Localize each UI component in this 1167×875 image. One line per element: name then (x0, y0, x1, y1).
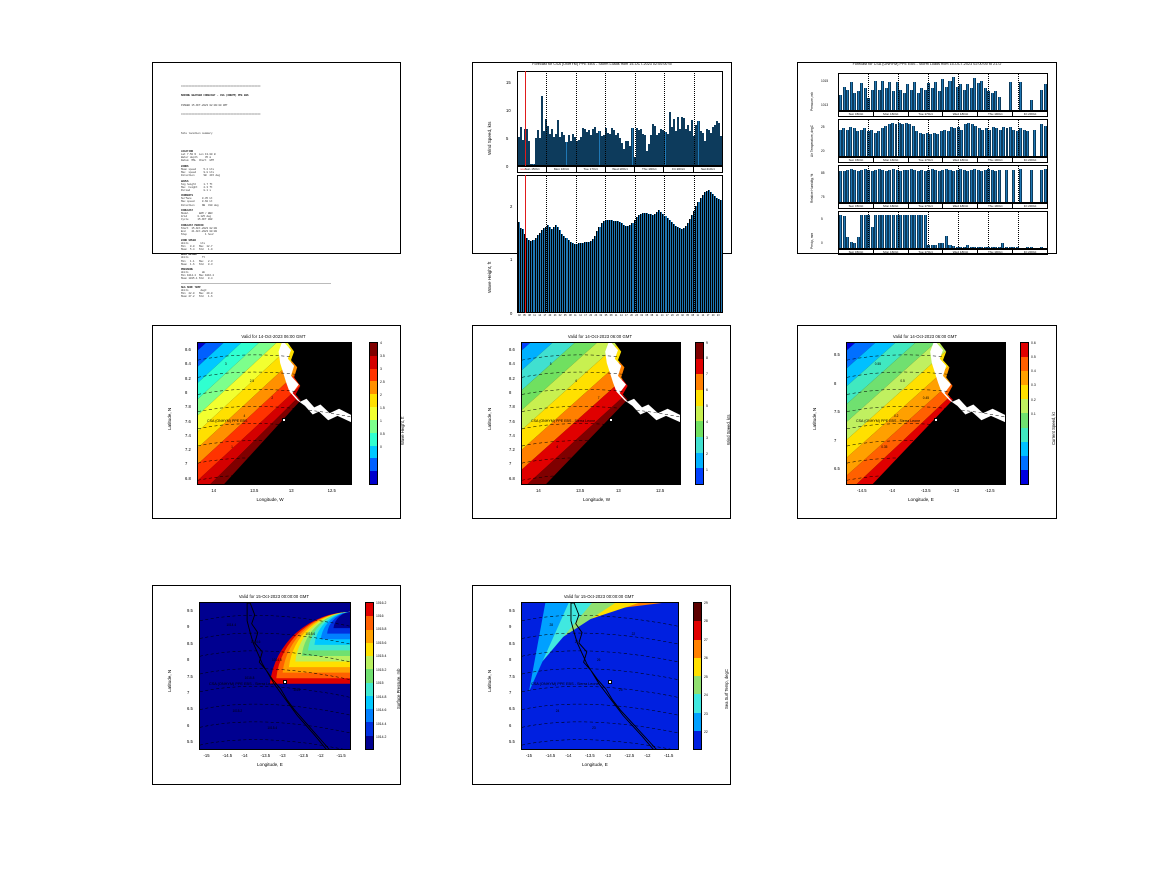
colorbar-tick: 22 (704, 730, 708, 734)
y-tick: 7.4 (185, 433, 191, 438)
x-tick: 05 (686, 314, 689, 317)
day-label: Tue 17Oct (909, 158, 944, 162)
day-gridline (605, 71, 606, 166)
map-ylabel: Latitude, N (487, 407, 492, 429)
x-tick: 13.5 (250, 488, 258, 493)
stacked-title: Forecast for CSA (ONHYM) PPE EBS - Storm… (798, 62, 1056, 66)
y-tick: 6 (187, 723, 189, 728)
contour-label: 0.55 (875, 362, 881, 366)
day-label: Tue 17Oct (909, 250, 944, 254)
colorbar-segment (366, 669, 373, 682)
site-marker (282, 418, 286, 422)
report-block: WINDSMean speed 5.2 ktsMax speed 9.8 kts… (181, 165, 390, 177)
day-gridline (868, 119, 869, 157)
report-block: FORECAST PERIODStart 15-Oct-2023 02:00En… (181, 224, 390, 236)
x-tick: 11 (615, 314, 617, 317)
y-tick: 8.6 (185, 347, 191, 352)
x-tick: -11.5 (337, 753, 346, 758)
report-block-line: Mean 27.2 Std 1.6 (181, 295, 390, 298)
map-xlabel: Longitude, W (583, 497, 610, 502)
bar (1044, 169, 1047, 202)
colorbar-segment (366, 630, 373, 643)
bar (924, 215, 927, 248)
panel-surface-pressure-map: Valid for 15-Oct-2023 00:00:00 GMTCSA (O… (152, 585, 401, 785)
x-tick: 13 (289, 488, 294, 493)
day-label: Thu 19Oct (978, 112, 1013, 116)
y-tick: 8.6 (509, 347, 515, 352)
y-tick: 7.2 (185, 447, 191, 452)
colorbar-tick: 26 (704, 656, 708, 660)
day-label: Wed 18Oct (943, 158, 978, 162)
contour-label: 1014.6 (251, 640, 261, 644)
y-tick: 10 (506, 108, 511, 113)
day-gridline (635, 175, 636, 313)
x-tick: -13 (953, 488, 959, 493)
x-tick: -11.5 (664, 753, 673, 758)
x-tick: -14 (565, 753, 571, 758)
day-gridline (928, 165, 929, 203)
x-tick: 05 (564, 314, 567, 317)
contour-label: 24 (556, 709, 560, 713)
report-title-4: ========================================… (181, 113, 390, 116)
y-tick: 8.5 (187, 641, 193, 646)
contour-label: 23 (592, 726, 596, 730)
site-marker (283, 680, 287, 684)
contour-label: 4 (244, 414, 246, 418)
colorbar-segment (1021, 428, 1028, 442)
day-gridline (868, 165, 869, 203)
x-tick: 14 (620, 314, 623, 317)
contour-label: 3 (225, 362, 227, 366)
colorbar-segment (366, 603, 373, 616)
day-gridline (635, 71, 636, 166)
colorbar-tick: 1014.2 (376, 735, 386, 739)
day-label: Fri 20Oct (664, 167, 693, 172)
colorbar-tick: 1014.8 (376, 695, 386, 699)
x-tick: -15 (526, 753, 532, 758)
colorbar-tick: 0.4 (1031, 369, 1036, 373)
x-tick: 08 (610, 314, 613, 317)
y-tick: 7.8 (185, 404, 191, 409)
x-tick: 23 (676, 314, 679, 317)
bar (1019, 169, 1022, 202)
site-marker (608, 680, 612, 684)
map-site-label: CSA (ONHYM) PPE EBS (207, 419, 247, 423)
colorbar-tick: 1015 (376, 681, 384, 685)
y-tick: 7.5 (834, 409, 840, 414)
panel-current-speed-map: Valid for 14-Oct-2023 06:00 GMTCSA (ONHY… (797, 325, 1057, 519)
colorbar-tick: 7 (706, 372, 708, 376)
map-title: Valid for 14-Oct-2023 06:00 GMT (197, 334, 350, 339)
colorbar-segment (696, 437, 703, 453)
day-label: Sun 15Oct (839, 250, 874, 254)
colorbar-segment (694, 713, 701, 731)
x-tick: 13.5 (576, 488, 584, 493)
day-gridline (958, 73, 959, 111)
y-tick: 1015 (821, 79, 828, 83)
bar (998, 97, 1001, 110)
colorbar-segment (370, 369, 377, 382)
map-site-label: CSA (ONHYM) PPE EBS - Sierra Leone (531, 419, 595, 423)
contour-label: 26 (597, 658, 601, 662)
contour-label: 4 (556, 445, 558, 449)
colorbar-tick: 29 (704, 601, 708, 605)
report-title-1: ========================================… (181, 85, 390, 88)
x-tick: 08 (651, 314, 654, 317)
y-tick: 5 (506, 136, 508, 141)
x-tick: 14 (536, 488, 541, 493)
colorbar-tick: 27 (704, 638, 708, 642)
x-tick: 20 (671, 314, 674, 317)
contour-label: 1015.6 (305, 632, 315, 636)
map-ylabel: Latitude, N (167, 407, 172, 429)
colorbar-segment (366, 709, 373, 722)
y-tick: 8 (509, 390, 511, 395)
stacked-ylabel-pressure: Pressure, mb (810, 92, 814, 111)
colorbar-segment (370, 381, 377, 394)
y-tick: 7 (834, 438, 836, 443)
x-tick: 02 (518, 314, 521, 317)
report-block-line: Period 8.1 s (181, 189, 390, 192)
contour-label: 0.3 (918, 462, 922, 466)
day-label: Sun 15Oct (839, 158, 874, 162)
day-label: Tue 17Oct (909, 204, 944, 208)
contour-label: 0.15 (939, 436, 945, 440)
day-label: Thu 19Oct (978, 204, 1013, 208)
day-gridline (928, 211, 929, 249)
map-title: Valid for 14-Oct-2023 06:00 GMT (846, 334, 1004, 339)
x-tick: -13.5 (921, 488, 931, 493)
day-gridline (868, 211, 869, 249)
x-tick: 11 (697, 314, 699, 317)
x-tick: 02 (600, 314, 603, 317)
colorbar-tick: 0.5 (1031, 355, 1036, 359)
x-tick: 14 (211, 488, 216, 493)
colorbar-tick: 1014.4 (376, 722, 386, 726)
y-tick: 7 (509, 690, 511, 695)
report-title-3: ISSUED 15-OCT-2023 02:00:00 GMT (181, 104, 390, 107)
report-block: WIND SPEEDUnits ktsMin 0.0 Max 12.7Mean … (181, 239, 390, 251)
y-tick: 7.6 (185, 419, 191, 424)
x-tick: 20 (630, 314, 633, 317)
colorbar-segment (694, 640, 701, 658)
colorbar-segment (694, 731, 701, 749)
colorbar-segment (370, 407, 377, 420)
contour-label: 1015.8 (245, 676, 255, 680)
x-tick: 23 (595, 314, 598, 317)
x-tick: -12.5 (299, 753, 309, 758)
wave-height-ylabel: Wave Height, ft (487, 262, 492, 293)
x-tick: 14 (579, 314, 582, 317)
day-gridline (1018, 73, 1019, 111)
map-plot-area[interactable] (521, 602, 679, 750)
colorbar-segment (694, 603, 701, 621)
y-tick: 9.5 (509, 608, 515, 613)
map-contour-field (198, 343, 352, 485)
day-label: Thu 19Oct (635, 167, 664, 172)
report-divider (181, 283, 331, 284)
day-label: Wed 18Oct (943, 112, 978, 116)
day-gridline (988, 211, 989, 249)
colorbar-tick: 1015.8 (376, 627, 386, 631)
colorbar-segment (1021, 399, 1028, 413)
y-tick: 7.8 (509, 404, 515, 409)
report-block-line: Datum MSL Chart GMT (181, 159, 390, 162)
map-contour-field (522, 603, 679, 750)
y-tick: 6.5 (187, 706, 193, 711)
colorbar-label: Surface Pressure, mb (396, 668, 401, 709)
now-marker-wave (525, 175, 526, 313)
report-block: WAVE HEIGHTUnits ftMin 1.1 Max 2.3Mean 1… (181, 253, 390, 265)
stacked-bars-relative-humidity (839, 166, 1047, 202)
x-tick: 02 (559, 314, 562, 317)
map-xlabel: Longitude, W (257, 497, 284, 502)
colorbar-segment (696, 359, 703, 375)
y-tick: 5.5 (187, 739, 193, 744)
stacked-bars-pressure (839, 74, 1047, 110)
colorbar-segment (370, 420, 377, 433)
map-plot-area[interactable] (521, 342, 681, 485)
map-ylabel: Latitude, N (167, 670, 172, 692)
report-block: FORECASTModel WAM / WW3Grid 0.125 degCyc… (181, 209, 390, 221)
x-tick: -14 (242, 753, 248, 758)
contour-label: 27 (575, 640, 579, 644)
colorbar-segment (370, 356, 377, 369)
y-tick: 6.5 (834, 466, 840, 471)
x-tick: -14 (889, 488, 895, 493)
bar (1030, 170, 1033, 202)
colorbar-tick: 1015.6 (376, 641, 386, 645)
y-tick: 7.5 (187, 674, 193, 679)
colorbar-segment (696, 374, 703, 390)
contour-label: 1015 (293, 688, 300, 692)
report-block: LOCATIONLat 7.50 N Lon 13.00 WWater dept… (181, 150, 390, 162)
y-tick: 9 (187, 624, 189, 629)
bar (1026, 131, 1029, 156)
report-title-2: MARINE WEATHER FORECAST - CSA (ONHYM) PP… (181, 94, 390, 97)
now-marker-wind (525, 71, 526, 166)
contour-label: 2 (271, 396, 273, 400)
stacked-day-strip: Sun 15OctMon 16OctTue 17OctWed 18OctThu … (838, 111, 1048, 117)
y-tick: 8.5 (834, 352, 840, 357)
y-tick: 7.2 (509, 447, 515, 452)
contour-label: 5 (550, 362, 552, 366)
contour-label: 1014.8 (272, 658, 282, 662)
colorbar-tick: 28 (704, 619, 708, 623)
y-tick: 8 (834, 381, 836, 386)
colorbar-segment (370, 446, 377, 459)
map-title: Valid for 14-Oct-2023 06:00 GMT (521, 334, 679, 339)
colorbar-tick: 9 (706, 341, 708, 345)
day-label: Fri 20Oct (1013, 112, 1047, 116)
contour-label: 8 (620, 425, 622, 429)
bar (720, 136, 722, 165)
x-tick: 08 (691, 314, 694, 317)
colorbar-segment (696, 453, 703, 469)
colorbar-segment (370, 343, 377, 356)
contour-label: 25 (619, 688, 623, 692)
day-gridline (958, 165, 959, 203)
panel-storm-loads-stacked: Forecast for CSA (ONHYM) PPE EBS - Storm… (797, 62, 1057, 254)
colorbar-label: Current Speed, kt (1051, 412, 1056, 445)
colorbar-segment (1021, 470, 1028, 484)
colorbar-segment (366, 736, 373, 749)
report-block-line: Mean 5.4 Std 1.9 (181, 248, 390, 251)
colorbar (695, 342, 704, 485)
day-gridline (546, 71, 547, 166)
x-tick: -13 (605, 753, 611, 758)
day-gridline (928, 119, 929, 157)
map-contour-field (522, 343, 681, 485)
map-site-label: CSA (ONHYM) PPE EBS - Sierra Leone (856, 419, 920, 423)
report-block-line: Mean 1015.1 Std 0.4 (181, 277, 390, 280)
bar (1044, 248, 1047, 249)
day-gridline (958, 211, 959, 249)
colorbar-tick: 1015.2 (376, 668, 386, 672)
day-label: Mon 16Oct (874, 112, 909, 116)
colorbar-tick: 1016 (376, 614, 384, 618)
day-gridline (868, 73, 869, 111)
map-title: Valid for 15-Oct-2023 00:00:00 GMT (199, 594, 349, 599)
colorbar-segment (370, 471, 377, 484)
y-tick: 2 (510, 204, 512, 209)
map-site-label: CSA (ONHYM) PPE EBS - Sierra Leone (531, 682, 599, 686)
report-text: ========================================… (181, 79, 390, 307)
y-tick: 9 (509, 624, 511, 629)
day-label: Thu 19Oct (978, 158, 1013, 162)
day-gridline (988, 165, 989, 203)
site-marker (609, 418, 613, 422)
bar (998, 170, 1001, 202)
colorbar-label: Wind Speed, kts (726, 414, 731, 445)
bar (1012, 170, 1015, 202)
x-tick: 02 (640, 314, 643, 317)
colorbar-segment (366, 643, 373, 656)
y-tick: 6.5 (509, 706, 515, 711)
report-block: SEA SURF TEMPUnits degCMin 22.0 Max 29.0… (181, 286, 390, 298)
stacked-ylabel-air-temperature: Air Temperature, degC (810, 125, 814, 157)
report-subheading: Site location summary (181, 132, 390, 135)
y-tick: 0 (821, 241, 823, 245)
x-tick: 20 (712, 314, 715, 317)
colorbar-tick: 8 (706, 356, 708, 360)
day-gridline (546, 175, 547, 313)
contour-label: 0.5 (900, 379, 904, 383)
x-tick: 08 (569, 314, 572, 317)
day-gridline (664, 175, 665, 313)
colorbar-segment (696, 468, 703, 484)
colorbar-tick: 2 (706, 452, 708, 456)
x-tick: -12 (644, 753, 650, 758)
colorbar-segment (366, 616, 373, 629)
colorbar-tick: 6 (706, 388, 708, 392)
y-tick: 15 (506, 80, 511, 85)
contour-label: 0.4 (945, 425, 949, 429)
day-gridline (605, 175, 606, 313)
y-tick: 7 (509, 461, 511, 466)
y-tick: 7 (187, 690, 189, 695)
report-block-line: Direction NW 310 deg (181, 204, 390, 207)
colorbar-segment (1021, 343, 1028, 357)
x-tick: -15 (204, 753, 210, 758)
day-gridline (576, 71, 577, 166)
x-tick: -14.5 (223, 753, 233, 758)
contour-label: 0.2 (894, 414, 898, 418)
contour-label: 3 (593, 462, 595, 466)
contour-label: 1015.4 (267, 726, 277, 730)
x-tick: -13.5 (261, 753, 271, 758)
colorbar-segment (694, 676, 701, 694)
x-tick: 13 (616, 488, 621, 493)
day-label: Sun 15Oct (839, 204, 874, 208)
x-tick: 20 (589, 314, 592, 317)
stacked-ylabel-relative-humidity: Relative Humidity, % (810, 174, 814, 203)
day-label: Sat 21Oct (694, 167, 722, 172)
map-plot-area[interactable] (846, 342, 1006, 485)
x-tick: -12.5 (625, 753, 635, 758)
colorbar-segment (694, 621, 701, 639)
colorbar-segment (696, 406, 703, 422)
day-gridline (664, 71, 665, 166)
report-block: PRESSUREUnits mbMin 1014.2 Max 1016.2Mea… (181, 268, 390, 280)
stacked-ylabel-precipitation: Precip, mm (810, 233, 814, 249)
day-label: Tue 17Oct (577, 167, 606, 172)
x-tick: 14 (702, 314, 705, 317)
y-tick: 6.8 (185, 476, 191, 481)
colorbar-segment (696, 343, 703, 359)
report-block-line: Step 1 hour (181, 233, 390, 236)
day-label: Fri 20Oct (1013, 250, 1047, 254)
colorbar-tick: 1.5 (380, 406, 385, 410)
colorbar-tick: 0.3 (1031, 383, 1036, 387)
colorbar (369, 342, 378, 485)
timeseries-title: Forecast for CSA (ONHYM) PPE EBS - Storm… (473, 62, 731, 66)
panel-forecast-report: ========================================… (152, 62, 401, 254)
y-tick: 75 (821, 195, 825, 199)
y-tick: 7.4 (509, 433, 515, 438)
map-ylabel: Latitude, N (487, 670, 492, 692)
bar (1019, 82, 1022, 110)
contour-label: 0.25 (958, 371, 964, 375)
site-marker (934, 418, 938, 422)
colorbar-segment (696, 421, 703, 437)
x-tick: 17 (584, 314, 587, 317)
y-tick: 7.5 (509, 674, 515, 679)
day-label: Wed 18Oct (943, 204, 978, 208)
map-plot-area[interactable] (197, 342, 352, 485)
day-label: Fri 20Oct (1013, 158, 1047, 162)
x-tick: 11 (533, 314, 535, 317)
wave-height-bars (518, 176, 722, 312)
y-tick: 6 (509, 723, 511, 728)
colorbar-segment (370, 394, 377, 407)
bar (1033, 130, 1036, 156)
y-tick: 8.2 (185, 376, 191, 381)
y-tick: 9.5 (187, 608, 193, 613)
y-tick: 7 (185, 461, 187, 466)
contour-label: 0.45 (923, 396, 929, 400)
contour-label: 28 (549, 623, 553, 627)
now-label: now (520, 167, 526, 171)
colorbar-tick: 1014.6 (376, 708, 386, 712)
x-tick: -14.5 (857, 488, 867, 493)
colorbar-tick: 1 (380, 419, 382, 423)
colorbar-segment (370, 433, 377, 446)
colorbar-segment (1021, 442, 1028, 456)
x-tick: 23 (554, 314, 557, 317)
map-contour-field (847, 343, 1006, 485)
day-gridline (898, 73, 899, 111)
